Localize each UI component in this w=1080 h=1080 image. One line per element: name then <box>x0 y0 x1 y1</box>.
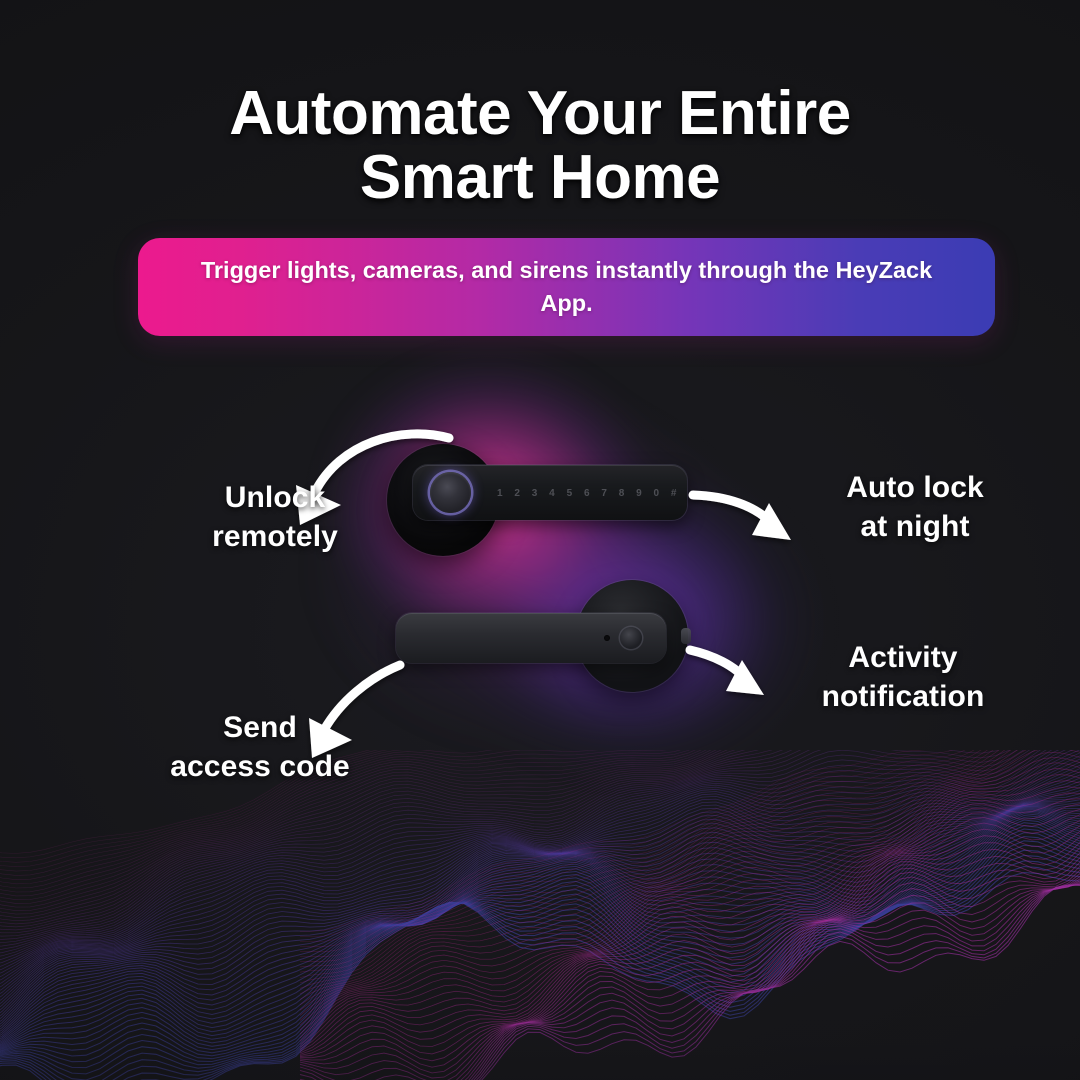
callout-label-auto-lock-at-night: Auto lock at night <box>790 468 1040 546</box>
keypad-digit-row: 1 2 3 4 5 6 7 8 9 0 # <box>497 483 677 503</box>
smart-lock-door-handle <box>396 580 688 692</box>
keypad-digit: 1 <box>497 488 503 499</box>
promo-canvas: Automate Your Entire Smart Home Trigger … <box>0 0 1080 1080</box>
keypad-digit: 8 <box>619 488 625 499</box>
headline-block: Automate Your Entire Smart Home <box>0 82 1080 211</box>
keypad-digit: 0 <box>654 488 660 499</box>
keypad-digit: 5 <box>567 488 573 499</box>
callout-label-unlock-remotely: Unlock remotely <box>150 478 400 556</box>
keypad-digit: 3 <box>532 488 538 499</box>
smart-lock-top-panel: 1 2 3 4 5 6 7 8 9 0 # <box>387 444 687 556</box>
callout-label-send-access-code: Send access code <box>120 708 400 786</box>
keypad-digit: 2 <box>514 488 520 499</box>
keypad-digit: 4 <box>549 488 555 499</box>
headline-line-2: Smart Home <box>0 146 1080 210</box>
lock-keypad-bar: 1 2 3 4 5 6 7 8 9 0 # <box>413 465 687 520</box>
handle-side-nub <box>681 628 691 644</box>
subtitle-text: Trigger lights, cameras, and sirens inst… <box>138 254 995 321</box>
headline-line-1: Automate Your Entire <box>0 82 1080 146</box>
keypad-digit: # <box>671 488 677 499</box>
status-led-icon <box>604 635 610 641</box>
fingerprint-sensor-icon <box>430 472 471 513</box>
page-title: Automate Your Entire Smart Home <box>0 82 1080 211</box>
subtitle-banner: Trigger lights, cameras, and sirens inst… <box>138 238 995 336</box>
keypad-digit: 9 <box>636 488 642 499</box>
keypad-digit: 6 <box>584 488 590 499</box>
callout-label-activity-notification: Activity notification <box>768 638 1038 716</box>
handle-button <box>620 627 642 649</box>
handle-lever <box>396 613 666 663</box>
keypad-digit: 7 <box>601 488 607 499</box>
